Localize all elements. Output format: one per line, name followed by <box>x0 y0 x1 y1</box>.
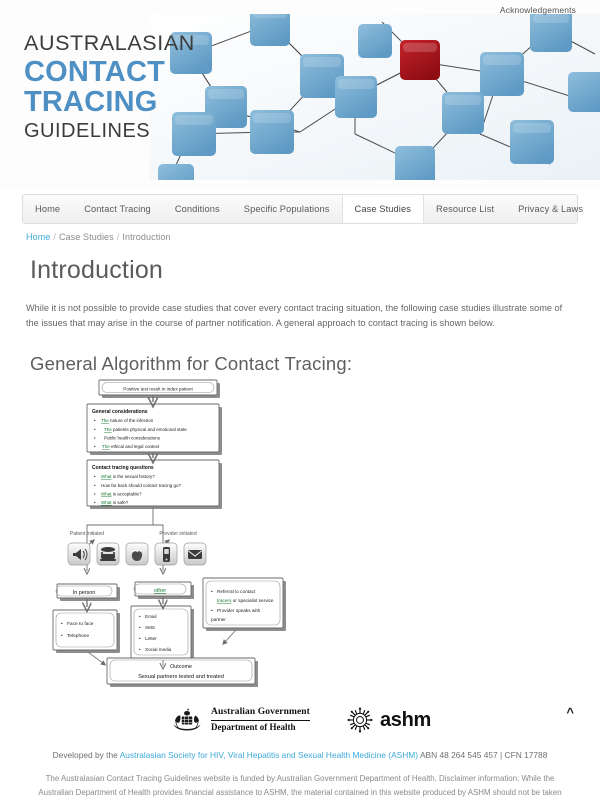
start-box-text: Positive test result in index patient <box>123 387 193 392</box>
envelope-icon <box>184 543 206 565</box>
gc-item-2: Public health considerations <box>104 436 161 441</box>
nav-item-home[interactable]: Home <box>23 195 72 223</box>
branch-label-left: Patient initiated <box>70 531 104 537</box>
outcome-title: Outcome <box>170 664 192 670</box>
developed-prefix: Developed by the <box>53 750 120 760</box>
site-header: AUSTRALASIAN CONTACT TRACING GUIDELINES <box>0 0 600 190</box>
site-logo[interactable]: AUSTRALASIAN CONTACT TRACING GUIDELINES <box>24 33 195 141</box>
other-item-3: Social media <box>145 647 172 652</box>
referral-item-1-l2: partner <box>211 617 226 622</box>
main-navigation: HomeContact TracingConditionsSpecific Po… <box>22 194 578 224</box>
ashm-logo: ashm <box>346 706 431 734</box>
gc-item-0: The nature of the infection <box>101 418 154 423</box>
nav-item-resource-list[interactable]: Resource List <box>424 195 506 223</box>
aus-gov-line-1: Australian Government <box>211 707 310 718</box>
nav-item-case-studies[interactable]: Case Studies <box>342 195 425 223</box>
footer-logos: Australian Government Department of Heal… <box>0 700 600 734</box>
referral-item-1-l1: Provider speaks with <box>217 608 261 613</box>
breadcrumb-separator-1: / <box>50 232 59 242</box>
ashm-virus-icon <box>346 706 374 734</box>
ctq-item-1: How far back should contact tracing go? <box>101 483 182 488</box>
ctq-item-0: What is the sexual history? <box>101 474 155 479</box>
contact-tracing-flowchart: Positive test result in index patient <box>26 375 326 690</box>
breadcrumb-home[interactable]: Home <box>26 232 50 242</box>
page-root: Acknowledgements <box>0 0 600 800</box>
brand-line-4: GUIDELINES <box>24 121 195 141</box>
ashm-link[interactable]: Australasian Society for HIV, Viral Hepa… <box>120 750 418 760</box>
branch-label-right: Provider initiated <box>159 531 196 537</box>
nav-item-contact-tracing[interactable]: Contact Tracing <box>72 195 163 223</box>
outcome-text: Sexual partners tested and treated <box>138 674 224 680</box>
flowchart-svg: Positive test result in index patient <box>26 375 326 690</box>
in-person-box-text: In person <box>73 590 95 596</box>
acknowledgements-link[interactable]: Acknowledgements <box>500 2 600 15</box>
telephone-icon <box>97 543 119 565</box>
brand-line-2: CONTACT <box>24 58 195 87</box>
aus-gov-line-2: Department of Health <box>211 722 310 732</box>
intro-paragraph: While it is not possible to provide case… <box>26 301 574 331</box>
nav-item-privacy-laws[interactable]: Privacy & Laws <box>506 195 595 223</box>
mobile-phone-icon <box>155 543 177 565</box>
nav-item-conditions[interactable]: Conditions <box>163 195 232 223</box>
gc-item-3: The ethical and legal context <box>102 444 160 449</box>
icon-row <box>68 543 206 565</box>
in-person-item-1: Telephone <box>67 633 89 639</box>
other-item-1: SMS <box>145 625 155 630</box>
commonwealth-coat-of-arms-icon <box>169 706 205 734</box>
other-box-text: other <box>154 588 166 594</box>
page-title: Introduction <box>30 256 574 285</box>
australian-government-logo: Australian Government Department of Heal… <box>169 706 310 734</box>
brand-line-3: TRACING <box>24 88 195 117</box>
in-person-item-0: Face to face <box>67 621 94 627</box>
referral-item-0-l2: tracers or specialist service <box>217 598 274 603</box>
brand-line-1: AUSTRALASIAN <box>24 33 195 55</box>
ashm-wordmark: ashm <box>380 709 431 732</box>
breadcrumb-parent[interactable]: Case Studies <box>59 232 114 242</box>
ctq-item-3: What is safe? <box>101 500 129 505</box>
nav-item-specific-populations[interactable]: Specific Populations <box>232 195 342 223</box>
referral-item-0-l1: Referral to contact <box>217 589 256 594</box>
utility-bar: Acknowledgements <box>0 0 600 18</box>
scroll-to-top-icon[interactable]: ^ <box>566 706 574 719</box>
disclaimer-text: The Australasian Contact Tracing Guideli… <box>34 772 566 800</box>
nav-list: HomeContact TracingConditionsSpecific Po… <box>23 195 577 223</box>
megaphone-icon <box>68 543 90 565</box>
ctq-item-2: What is acceptable? <box>101 492 142 497</box>
section-title: General Algorithm for Contact Tracing: <box>30 353 574 375</box>
gc-item-1: The patients physical and emotional stat… <box>104 427 187 432</box>
ctq-heading: Contact tracing questions <box>92 465 154 471</box>
breadcrumb: Home/Case Studies/Introduction <box>26 232 574 242</box>
main-content: Home/Case Studies/Introduction Introduct… <box>26 232 574 375</box>
developed-suffix: ABN 48 264 545 457 | CFN 17788 <box>418 750 547 760</box>
other-item-0: Email <box>145 614 157 619</box>
breadcrumb-current: Introduction <box>122 232 170 242</box>
general-considerations-heading: General considerations <box>92 409 148 415</box>
other-item-2: Letter <box>145 636 157 641</box>
site-footer: Australian Government Department of Heal… <box>0 700 600 800</box>
developed-by-line: Developed by the Australasian Society fo… <box>0 750 600 760</box>
header-banner-graphic <box>150 14 600 180</box>
lips-icon <box>126 543 148 565</box>
aus-gov-divider <box>211 720 310 721</box>
network-nodes-illustration <box>150 14 600 180</box>
